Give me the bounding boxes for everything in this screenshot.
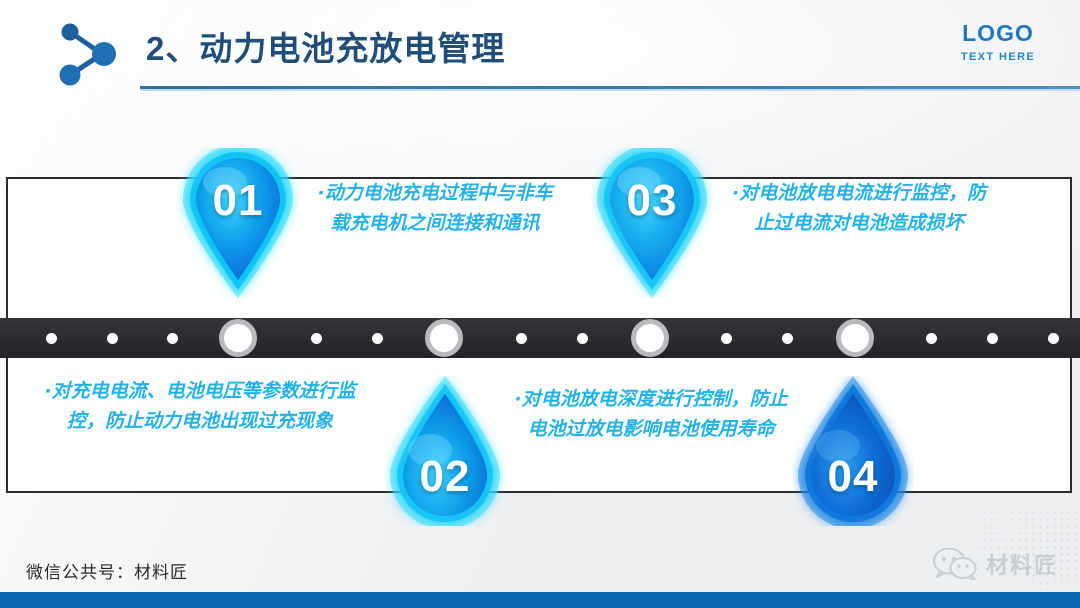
timeline-dot <box>372 333 383 344</box>
timeline-band <box>0 318 1080 358</box>
milestone-number-02: 02 <box>384 452 506 502</box>
timeline-dot <box>721 333 732 344</box>
timeline-dot <box>167 333 178 344</box>
milestone-marker-02[interactable]: 02 <box>384 376 506 526</box>
bottom-accent-bar <box>0 592 1080 608</box>
logo-main-text: LOGO <box>938 22 1058 45</box>
timeline-dot <box>46 333 57 344</box>
watermark-label: 材料匠 <box>986 548 1058 580</box>
watermark: 材料匠 <box>932 548 1058 580</box>
milestone-number-04: 04 <box>792 452 914 502</box>
slide-header: 2、动力电池充放电管理 LOGO TEXT HERE <box>0 0 1080 110</box>
timeline-node-04[interactable] <box>836 319 874 357</box>
slide-canvas: 2、动力电池充放电管理 LOGO TEXT HERE <box>0 0 1080 608</box>
wechat-icon <box>932 548 978 580</box>
timeline-dot <box>107 333 118 344</box>
logo-block: LOGO TEXT HERE <box>938 22 1058 63</box>
timeline-dot <box>311 333 322 344</box>
milestone-text-02: ·对充电电流、电池电压等参数进行监控，防止动力电池出现过充现象 <box>40 376 360 437</box>
timeline-dot <box>926 333 937 344</box>
milestone-text-04: ·对电池放电深度进行控制，防止电池过放电影响电池使用寿命 <box>512 384 790 445</box>
timeline-dot <box>987 333 998 344</box>
page-title: 2、动力电池充放电管理 <box>146 22 505 70</box>
timeline-dot <box>1048 333 1059 344</box>
logo-sub-text: TEXT HERE <box>938 51 1058 63</box>
timeline-node-03[interactable] <box>631 319 669 357</box>
milestone-marker-03[interactable]: 03 <box>591 148 713 298</box>
milestone-text-01: ·动力电池充电过程中与非车载充电机之间连接和通讯 <box>316 178 554 239</box>
milestone-text-03: ·对电池放电电流进行监控，防止过电流对电池造成损坏 <box>724 178 994 239</box>
milestone-number-01: 01 <box>177 176 299 226</box>
milestone-marker-01[interactable]: 01 <box>177 148 299 298</box>
timeline-node-02[interactable] <box>425 319 463 357</box>
drop-up-icon <box>792 376 914 526</box>
network-node-icon <box>46 18 138 90</box>
milestone-number-03: 03 <box>591 176 713 226</box>
milestone-marker-04[interactable]: 04 <box>792 376 914 526</box>
timeline-dot <box>516 333 527 344</box>
timeline-dot <box>782 333 793 344</box>
drop-up-icon <box>384 376 506 526</box>
timeline-node-01[interactable] <box>219 319 257 357</box>
header-divider-light <box>140 89 1080 91</box>
timeline-dot <box>577 333 588 344</box>
footer-account-text: 微信公共号：材料匠 <box>26 558 188 583</box>
